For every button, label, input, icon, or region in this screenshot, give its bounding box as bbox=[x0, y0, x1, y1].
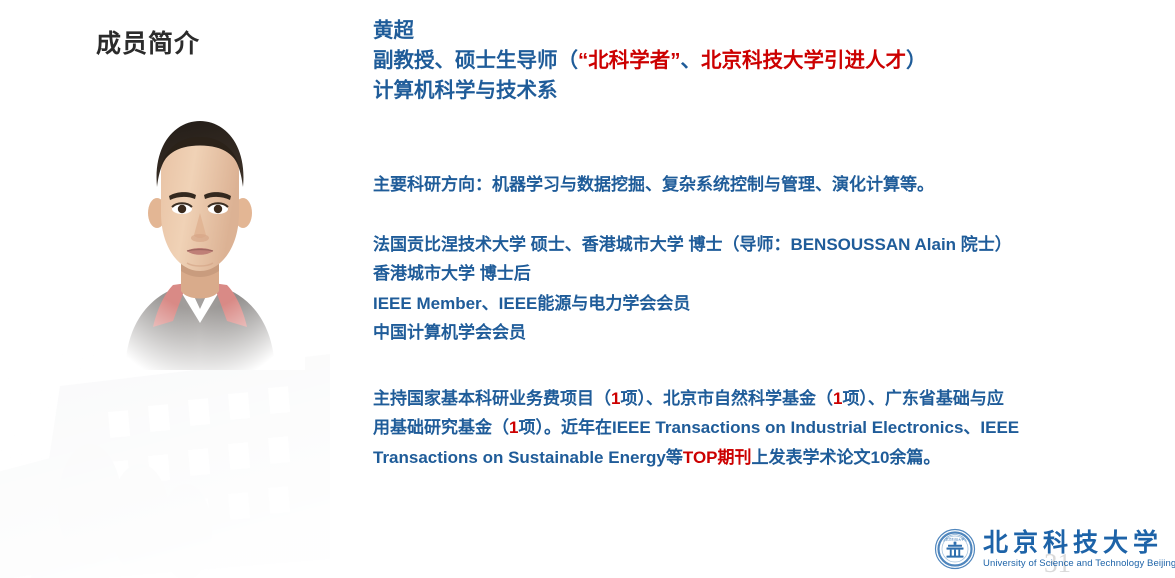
position-suffix: ） bbox=[906, 49, 927, 72]
projects-seg-7: 上发表学术论文10余篇。 bbox=[752, 448, 941, 467]
projects-line-3: Transactions on Sustainable Energy等TOP期刊… bbox=[373, 443, 1163, 473]
honor-title-beike-scholar: “北科学者” bbox=[578, 49, 681, 72]
projects-seg-4: 用基础研究基金（ bbox=[373, 418, 509, 437]
projects-seg-6: Transactions on Sustainable Energy等 bbox=[373, 448, 683, 467]
projects-seg-2: 项）、北京市自然科学基金（ bbox=[620, 389, 833, 408]
svg-text:北京科技大学: 北京科技大学 bbox=[946, 537, 965, 542]
slide-canvas: 成员简介 bbox=[0, 0, 1175, 578]
member-bio: 黄超 副教授、硕士生导师（“北科学者”、北京科技大学引进人才） 计算机科学与技术… bbox=[373, 16, 1163, 472]
top-journal-highlight: TOP期刊 bbox=[683, 448, 752, 467]
education-line-3: IEEE Member、IEEE能源与电力学会会员 bbox=[373, 289, 1163, 319]
member-department: 计算机科学与技术系 bbox=[373, 76, 1163, 106]
university-name-cn: 北京科技大学 bbox=[983, 530, 1175, 555]
ustb-crest-icon: 北京科技大学 bbox=[934, 528, 976, 570]
projects-seg-3: 项）、广东省基础与应 bbox=[842, 389, 1004, 408]
projects-seg-1: 主持国家基本科研业务费项目（ bbox=[373, 389, 611, 408]
projects-line-2: 用基础研究基金（1项）。近年在IEEE Transactions on Indu… bbox=[373, 413, 1163, 443]
spacer-after-education bbox=[373, 348, 1163, 384]
position-separator: 、 bbox=[681, 49, 702, 72]
position-prefix: 副教授、硕士生导师（ bbox=[373, 49, 578, 72]
education-line-4: 中国计算机学会会员 bbox=[373, 318, 1163, 348]
honor-title-recruited-talent: 北京科技大学引进人才 bbox=[701, 49, 906, 72]
spacer-after-research bbox=[373, 200, 1163, 230]
university-logo: 北京科技大学 北京科技大学 University of Science and … bbox=[934, 524, 1170, 574]
member-position-line: 副教授、硕士生导师（“北科学者”、北京科技大学引进人才） bbox=[373, 46, 1163, 76]
education-line-2: 香港城市大学 博士后 bbox=[373, 259, 1163, 289]
university-logo-text: 北京科技大学 University of Science and Technol… bbox=[983, 530, 1175, 569]
research-directions: 主要科研方向：机器学习与数据挖掘、复杂系统控制与管理、演化计算等。 bbox=[373, 170, 1163, 200]
page-title: 成员简介 bbox=[96, 24, 200, 60]
education-line-1: 法国贡比涅技术大学 硕士、香港城市大学 博士（导师：BENSOUSSAN Ala… bbox=[373, 230, 1163, 260]
member-name: 黄超 bbox=[373, 16, 1163, 46]
member-portrait-photo bbox=[95, 95, 305, 370]
projects-line-1: 主持国家基本科研业务费项目（1项）、北京市自然科学基金（1项）、广东省基础与应 bbox=[373, 384, 1163, 414]
university-name-en: University of Science and Technology Bei… bbox=[983, 559, 1175, 569]
campus-building-watermark bbox=[0, 354, 330, 578]
projects-seg-5: 项）。近年在IEEE Transactions on Industrial El… bbox=[518, 418, 1019, 437]
spacer-after-header bbox=[373, 106, 1163, 170]
